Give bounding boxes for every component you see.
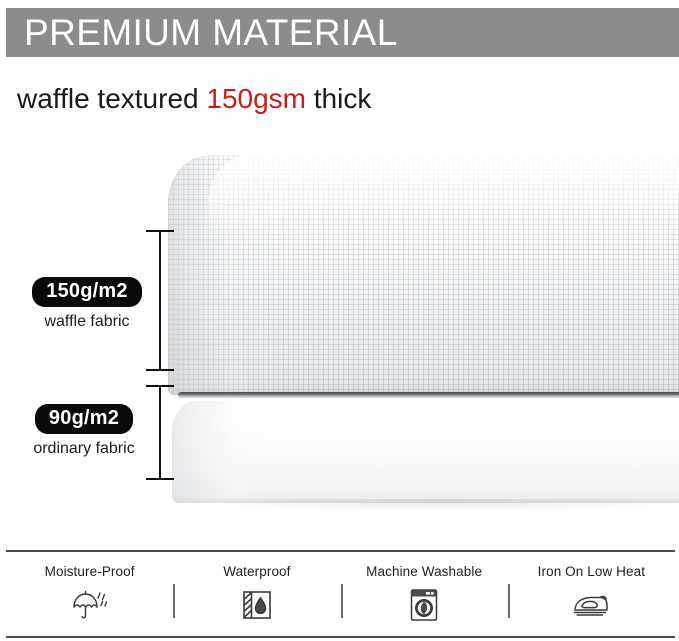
fabric-seam-shadow [178, 392, 679, 398]
feature-label: Iron On Low Heat [538, 564, 645, 579]
product-photo [0, 120, 679, 545]
ordinary-fabric-layer [172, 401, 679, 503]
feature-machine-washable: Machine Washable [341, 552, 508, 636]
measure-cap-bottom [146, 478, 174, 480]
header-banner: PREMIUM MATERIAL [6, 8, 679, 57]
feature-bar: Moisture-Proof Waterproof [6, 550, 675, 638]
measure-bar-waffle [146, 230, 174, 371]
callout-ordinary-fabric: 90g/m2 ordinary fabric [20, 404, 148, 458]
weight-badge: 150g/m2 [32, 277, 141, 307]
callout-caption: ordinary fabric [20, 439, 148, 458]
product-ground-shadow [185, 499, 679, 511]
measure-cap-bottom [146, 369, 174, 371]
feature-label: Machine Washable [366, 564, 482, 579]
subtitle-highlight: 150gsm [206, 83, 306, 114]
measure-stem [159, 385, 161, 480]
water-droplet-fabric-icon [234, 588, 280, 622]
feature-label: Waterproof [223, 564, 290, 579]
product-infographic: PREMIUM MATERIAL waffle textured 150gsm … [0, 0, 679, 641]
callout-waffle-fabric: 150g/m2 waffle fabric [28, 277, 146, 331]
feature-label: Moisture-Proof [45, 564, 135, 579]
clothes-iron-icon [568, 588, 614, 622]
weight-badge: 90g/m2 [35, 404, 133, 434]
waffle-fabric-layer [168, 155, 679, 395]
subtitle-suffix: thick [306, 83, 371, 114]
feature-iron-low-heat: Iron On Low Heat [508, 552, 675, 636]
measure-stem [159, 230, 161, 371]
feature-waterproof: Waterproof [173, 552, 340, 636]
measure-bar-ordinary [146, 385, 174, 480]
washing-machine-icon [401, 588, 447, 622]
umbrella-rain-icon [67, 588, 113, 622]
subtitle-prefix: waffle textured [17, 83, 206, 114]
page-title: PREMIUM MATERIAL [6, 14, 398, 51]
feature-moisture-proof: Moisture-Proof [6, 552, 173, 636]
callout-caption: waffle fabric [28, 312, 146, 331]
subtitle: waffle textured 150gsm thick [17, 82, 371, 116]
